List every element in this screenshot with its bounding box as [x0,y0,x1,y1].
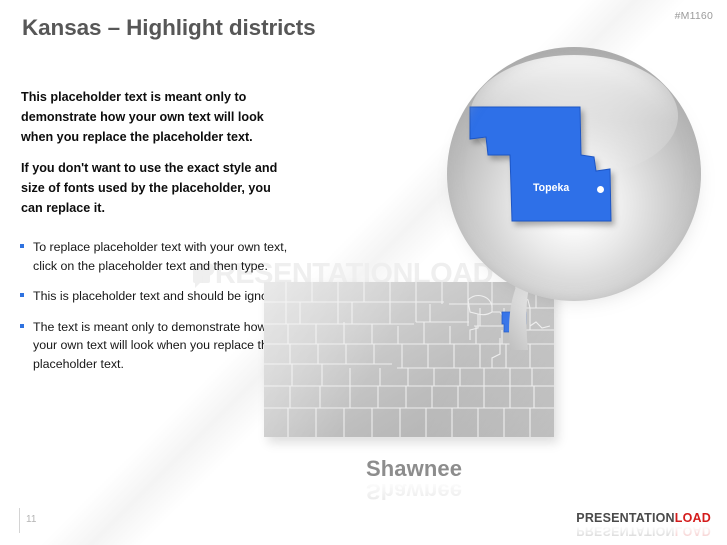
lead-paragraph-1: This placeholder text is meant only to d… [21,88,289,147]
bullet-list: To replace placeholder text with your ow… [19,238,291,374]
square-bullet-icon [20,324,24,328]
kansas-county-map[interactable] [264,282,554,437]
district-name-reflection: Shawnee [366,478,462,504]
magnifier-sphere: Topeka [447,47,701,301]
map-county-boundaries [264,282,554,437]
brand-logo-reflection: PRESENTATIONLOAD [576,524,711,538]
page-number: 11 [26,514,36,525]
brand-logo: PRESENTATIONLOAD [576,511,711,525]
brand-name-accent: LOAD [675,511,711,525]
sphere-rim-highlight [447,47,701,301]
list-item: This is placeholder text and should be i… [19,287,291,306]
list-item: The text is meant only to demonstrate ho… [19,318,291,374]
list-item: To replace placeholder text with your ow… [19,238,291,275]
list-item-label: To replace placeholder text with your ow… [33,240,287,273]
brand-name-main: PRESENTATION [576,511,674,525]
square-bullet-icon [20,293,24,297]
slide-canvas: Kansas – Highlight districts #M1160 PRES… [0,0,727,545]
brand-name-main-reflection: PRESENTATION [576,524,674,538]
lead-text-block: This placeholder text is meant only to d… [21,88,289,219]
page-title: Kansas – Highlight districts [22,15,316,41]
square-bullet-icon [20,244,24,248]
highlighted-county-shape [502,312,526,332]
lead-paragraph-2: If you don't want to use the exact style… [21,159,289,218]
brand-name-accent-reflection: LOAD [675,524,711,538]
document-id-label: #M1160 [675,10,713,22]
list-item-label: The text is meant only to demonstrate ho… [33,320,275,371]
list-item-label: This is placeholder text and should be i… [33,289,289,303]
footer-divider [19,508,20,533]
sphere-body: Topeka [447,47,701,301]
